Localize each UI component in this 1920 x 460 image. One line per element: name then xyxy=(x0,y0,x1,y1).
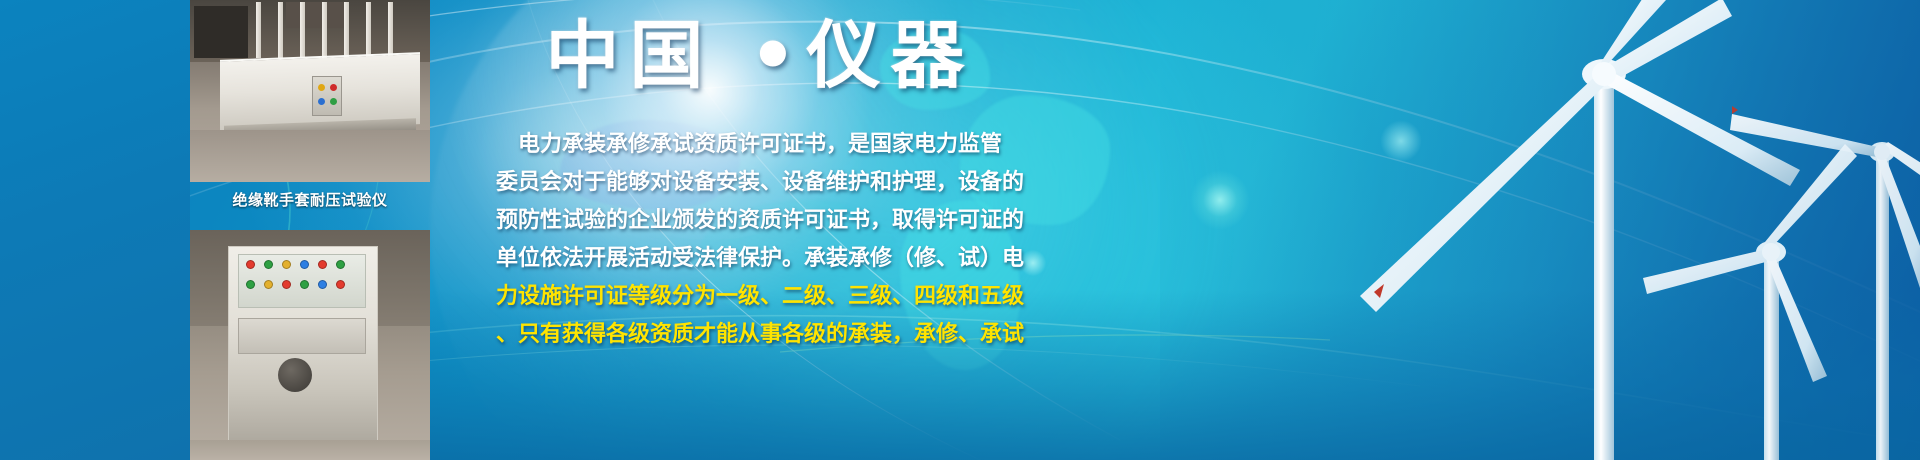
banner-paragraph: 电力承装承修承试资质许可证书，是国家电力监管 委员会对于能够对设备安装、设备维护… xyxy=(430,126,1090,354)
paragraph-line: 力设施许可证等级分为一级、二级、三级、四级和五级 xyxy=(430,278,1090,316)
promo-banner: 绝缘靴手套耐压试验仪 中国 •仪器 电力承装承修承试资质许可证书，是国家电力监管… xyxy=(0,0,1920,460)
paragraph-line: 单位依法开展活动受法律保护。承装承修（修、试）电 xyxy=(430,240,1090,278)
thumbnail-column xyxy=(190,0,430,460)
thumbnail-insulating-boot-glove-pressure-tester[interactable] xyxy=(190,0,430,182)
wind-turbines-graphic xyxy=(1360,0,1920,460)
thumbnail-control-cabinet-test-equipment[interactable] xyxy=(190,230,430,460)
background-left-panel xyxy=(0,0,190,460)
paragraph-line: 预防性试验的企业颁发的资质许可证书，取得许可证的 xyxy=(430,202,1090,240)
paragraph-line: 委员会对于能够对设备安装、设备维护和护理，设备的 xyxy=(430,164,1090,202)
banner-title: 中国 •仪器 xyxy=(430,8,1090,104)
text-content: 中国 •仪器 电力承装承修承试资质许可证书，是国家电力监管 委员会对于能够对设备… xyxy=(430,0,1090,460)
paragraph-line: 电力承装承修承试资质许可证书，是国家电力监管 xyxy=(430,126,1090,164)
paragraph-line: 、只有获得各级资质才能从事各级的承装，承修、承试 xyxy=(430,316,1090,354)
thumbnail-caption-1: 绝缘靴手套耐压试验仪 xyxy=(190,189,430,210)
